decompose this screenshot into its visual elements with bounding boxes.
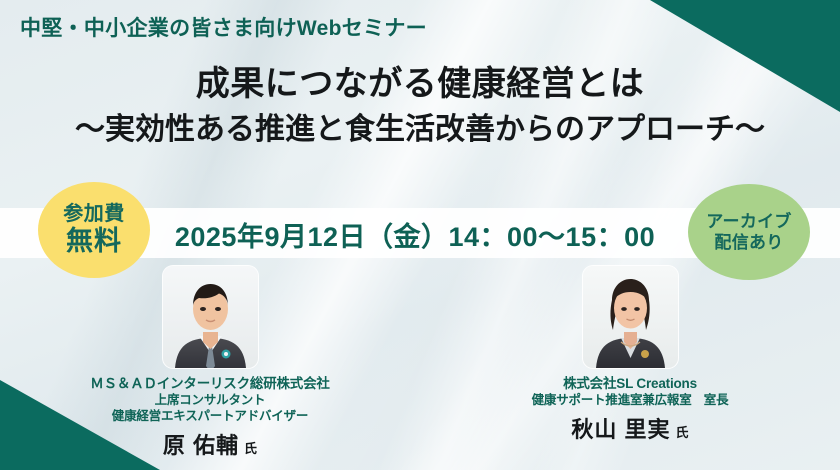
badge-free-admission: 参加費 無料 <box>38 182 150 278</box>
speaker-org-line3: 健康経営エキスパートアドバイザー <box>10 408 410 424</box>
page-title: 成果につながる健康経営とは <box>0 56 840 105</box>
badge-archive-value: 配信あり <box>714 234 783 252</box>
banner-kicker: 中堅・中小企業の皆さま向けWebセミナー <box>20 12 427 42</box>
badge-free-label: 参加費 <box>63 204 125 225</box>
badge-free-value: 無料 <box>66 227 122 255</box>
speaker-name-suffix: 氏 <box>244 441 257 456</box>
speaker-org-line2: 健康サポート推進室兼広報室 室長 <box>440 392 820 408</box>
speaker-card: ＭＳ＆ＡＤインターリスク総研株式会社 上席コンサルタント 健康経営エキスパートア… <box>0 266 420 470</box>
speaker-organization: ＭＳ＆ＡＤインターリスク総研株式会社 上席コンサルタント 健康経営エキスパートア… <box>10 375 410 424</box>
speaker-card: 株式会社SL Creations 健康サポート推進室兼広報室 室長 秋山 里実氏 <box>420 266 840 470</box>
speaker-photo-male <box>163 266 258 368</box>
speaker-org-line2: 上席コンサルタント <box>10 392 410 408</box>
speaker-name: 秋山 里実氏 <box>571 412 688 444</box>
badge-archive-label: アーカイブ <box>706 213 791 231</box>
speaker-org-line1: 株式会社SL Creations <box>440 375 820 392</box>
speaker-org-line1: ＭＳ＆ＡＤインターリスク総研株式会社 <box>10 375 410 392</box>
event-datetime: 2025年9月12日（金）14：00〜15：00 <box>150 214 680 254</box>
webinar-banner: 中堅・中小企業の皆さま向けWebセミナー 成果につながる健康経営とは 〜実効性あ… <box>0 0 840 470</box>
page-subtitle: 〜実効性ある推進と食生活改善からのアプローチ〜 <box>0 104 840 148</box>
speaker-name-text: 秋山 里実 <box>571 417 670 442</box>
speaker-name-suffix: 氏 <box>676 425 689 440</box>
speaker-photo-female <box>583 266 678 368</box>
speaker-list: ＭＳ＆ＡＤインターリスク総研株式会社 上席コンサルタント 健康経営エキスパートア… <box>0 266 840 470</box>
speaker-organization: 株式会社SL Creations 健康サポート推進室兼広報室 室長 <box>440 375 820 408</box>
speaker-name: 原 佑輔氏 <box>163 428 257 460</box>
speaker-name-text: 原 佑輔 <box>163 433 239 458</box>
